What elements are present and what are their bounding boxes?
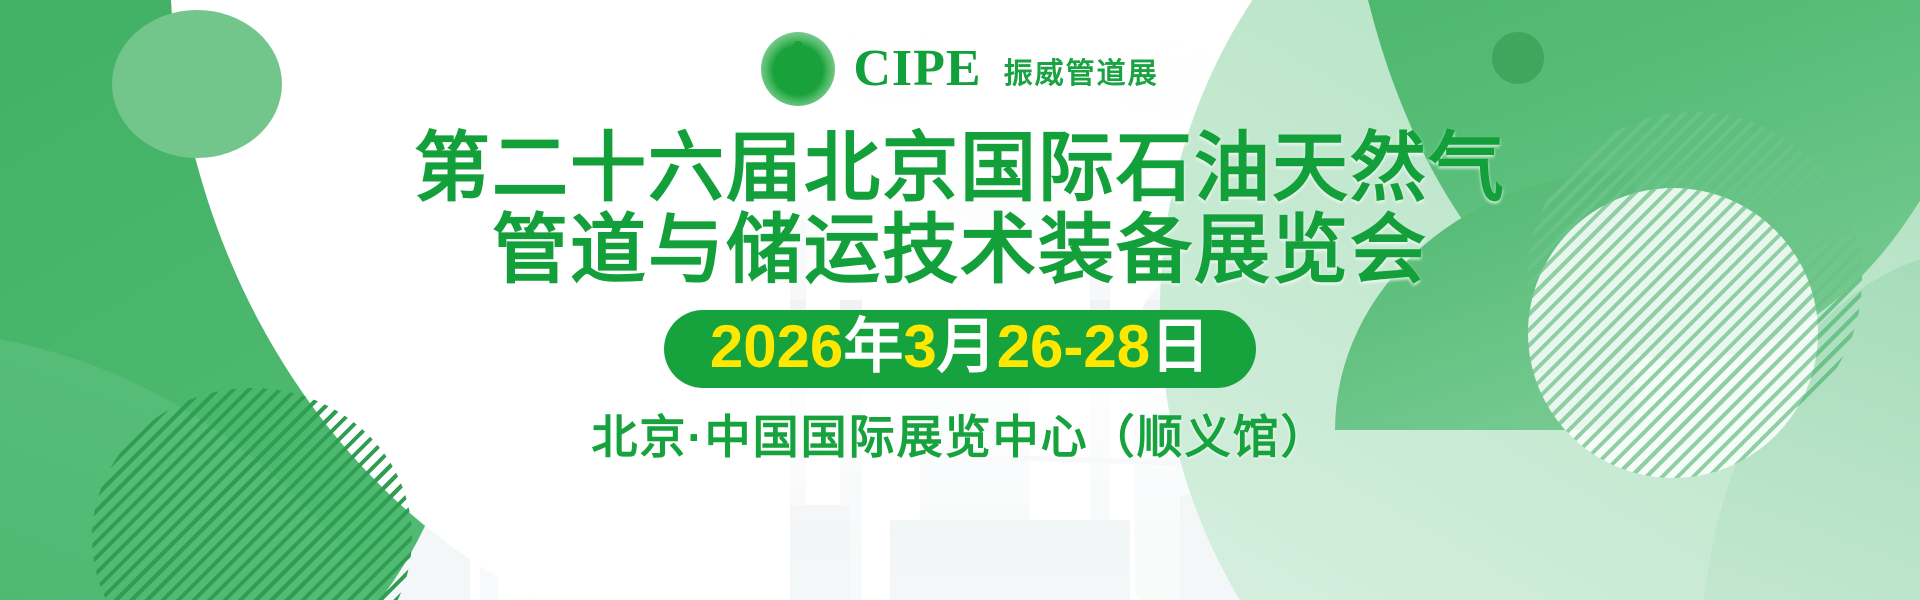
date-days: 26-28 bbox=[997, 317, 1150, 377]
date-month: 3 bbox=[903, 317, 936, 377]
date-year-unit: 年 bbox=[843, 317, 903, 377]
banner-content: CIPE 振威管道展 第二十六届北京国际石油天然气 管道与储运技术装备展览会 2… bbox=[0, 0, 1920, 600]
event-date-badge: 2026年3月26-28日 bbox=[664, 310, 1256, 388]
headline-line-1: 第二十六届北京国际石油天然气 bbox=[414, 128, 1506, 210]
date-day-unit: 日 bbox=[1150, 317, 1210, 377]
cipe-logo-icon bbox=[761, 32, 835, 106]
logo-chinese-name: 振威管道展 bbox=[1004, 60, 1159, 89]
logo-lockup: CIPE 振威管道展 bbox=[761, 32, 1158, 106]
date-month-unit: 月 bbox=[937, 317, 997, 377]
page-title: 第二十六届北京国际石油天然气 管道与储运技术装备展览会 bbox=[414, 128, 1506, 292]
headline-line-2: 管道与储运技术装备展览会 bbox=[414, 210, 1506, 292]
date-year: 2026 bbox=[710, 317, 843, 377]
logo-acronym: CIPE bbox=[853, 43, 981, 95]
venue-line: 北京·中国国际展览中心（顺义馆） bbox=[591, 414, 1328, 460]
cipe-exhibition-banner: CIPE 振威管道展 第二十六届北京国际石油天然气 管道与储运技术装备展览会 2… bbox=[0, 0, 1920, 600]
